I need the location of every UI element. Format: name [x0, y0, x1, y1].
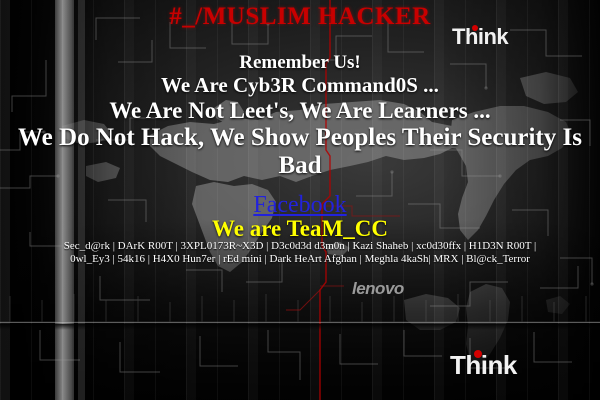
credits-line-1: Sec_d@rk | DArK R00T | 3XPL0173R~X3D | D…: [0, 240, 600, 253]
page-title: #_/MUSLIM HACKER: [0, 3, 600, 31]
defacement-page: Think Think lenovo #_/MUSLIM HACKER Reme…: [0, 0, 600, 400]
defacement-content: #_/MUSLIM HACKER Remember Us! We Are Cyb…: [0, 0, 600, 400]
facebook-link[interactable]: Facebook: [0, 192, 600, 219]
message-line-2: We Are Cyb3R Command0S ...: [0, 74, 600, 98]
defacement-message: Remember Us! We Are Cyb3R Command0S ... …: [0, 52, 600, 181]
message-line-4: We Do Not Hack, We Show Peoples Their Se…: [0, 124, 600, 181]
message-line-1: Remember Us!: [0, 52, 600, 74]
credits-list: Sec_d@rk | DArK R00T | 3XPL0173R~X3D | D…: [0, 240, 600, 267]
message-line-3: We Are Not Leet's, We Are Learners ...: [0, 98, 600, 124]
team-name: We are TeaM_CC: [0, 216, 600, 242]
credits-line-2: 0wl_Ey3 | 54k16 | H4X0 Hun7er | rEd mini…: [0, 253, 600, 266]
